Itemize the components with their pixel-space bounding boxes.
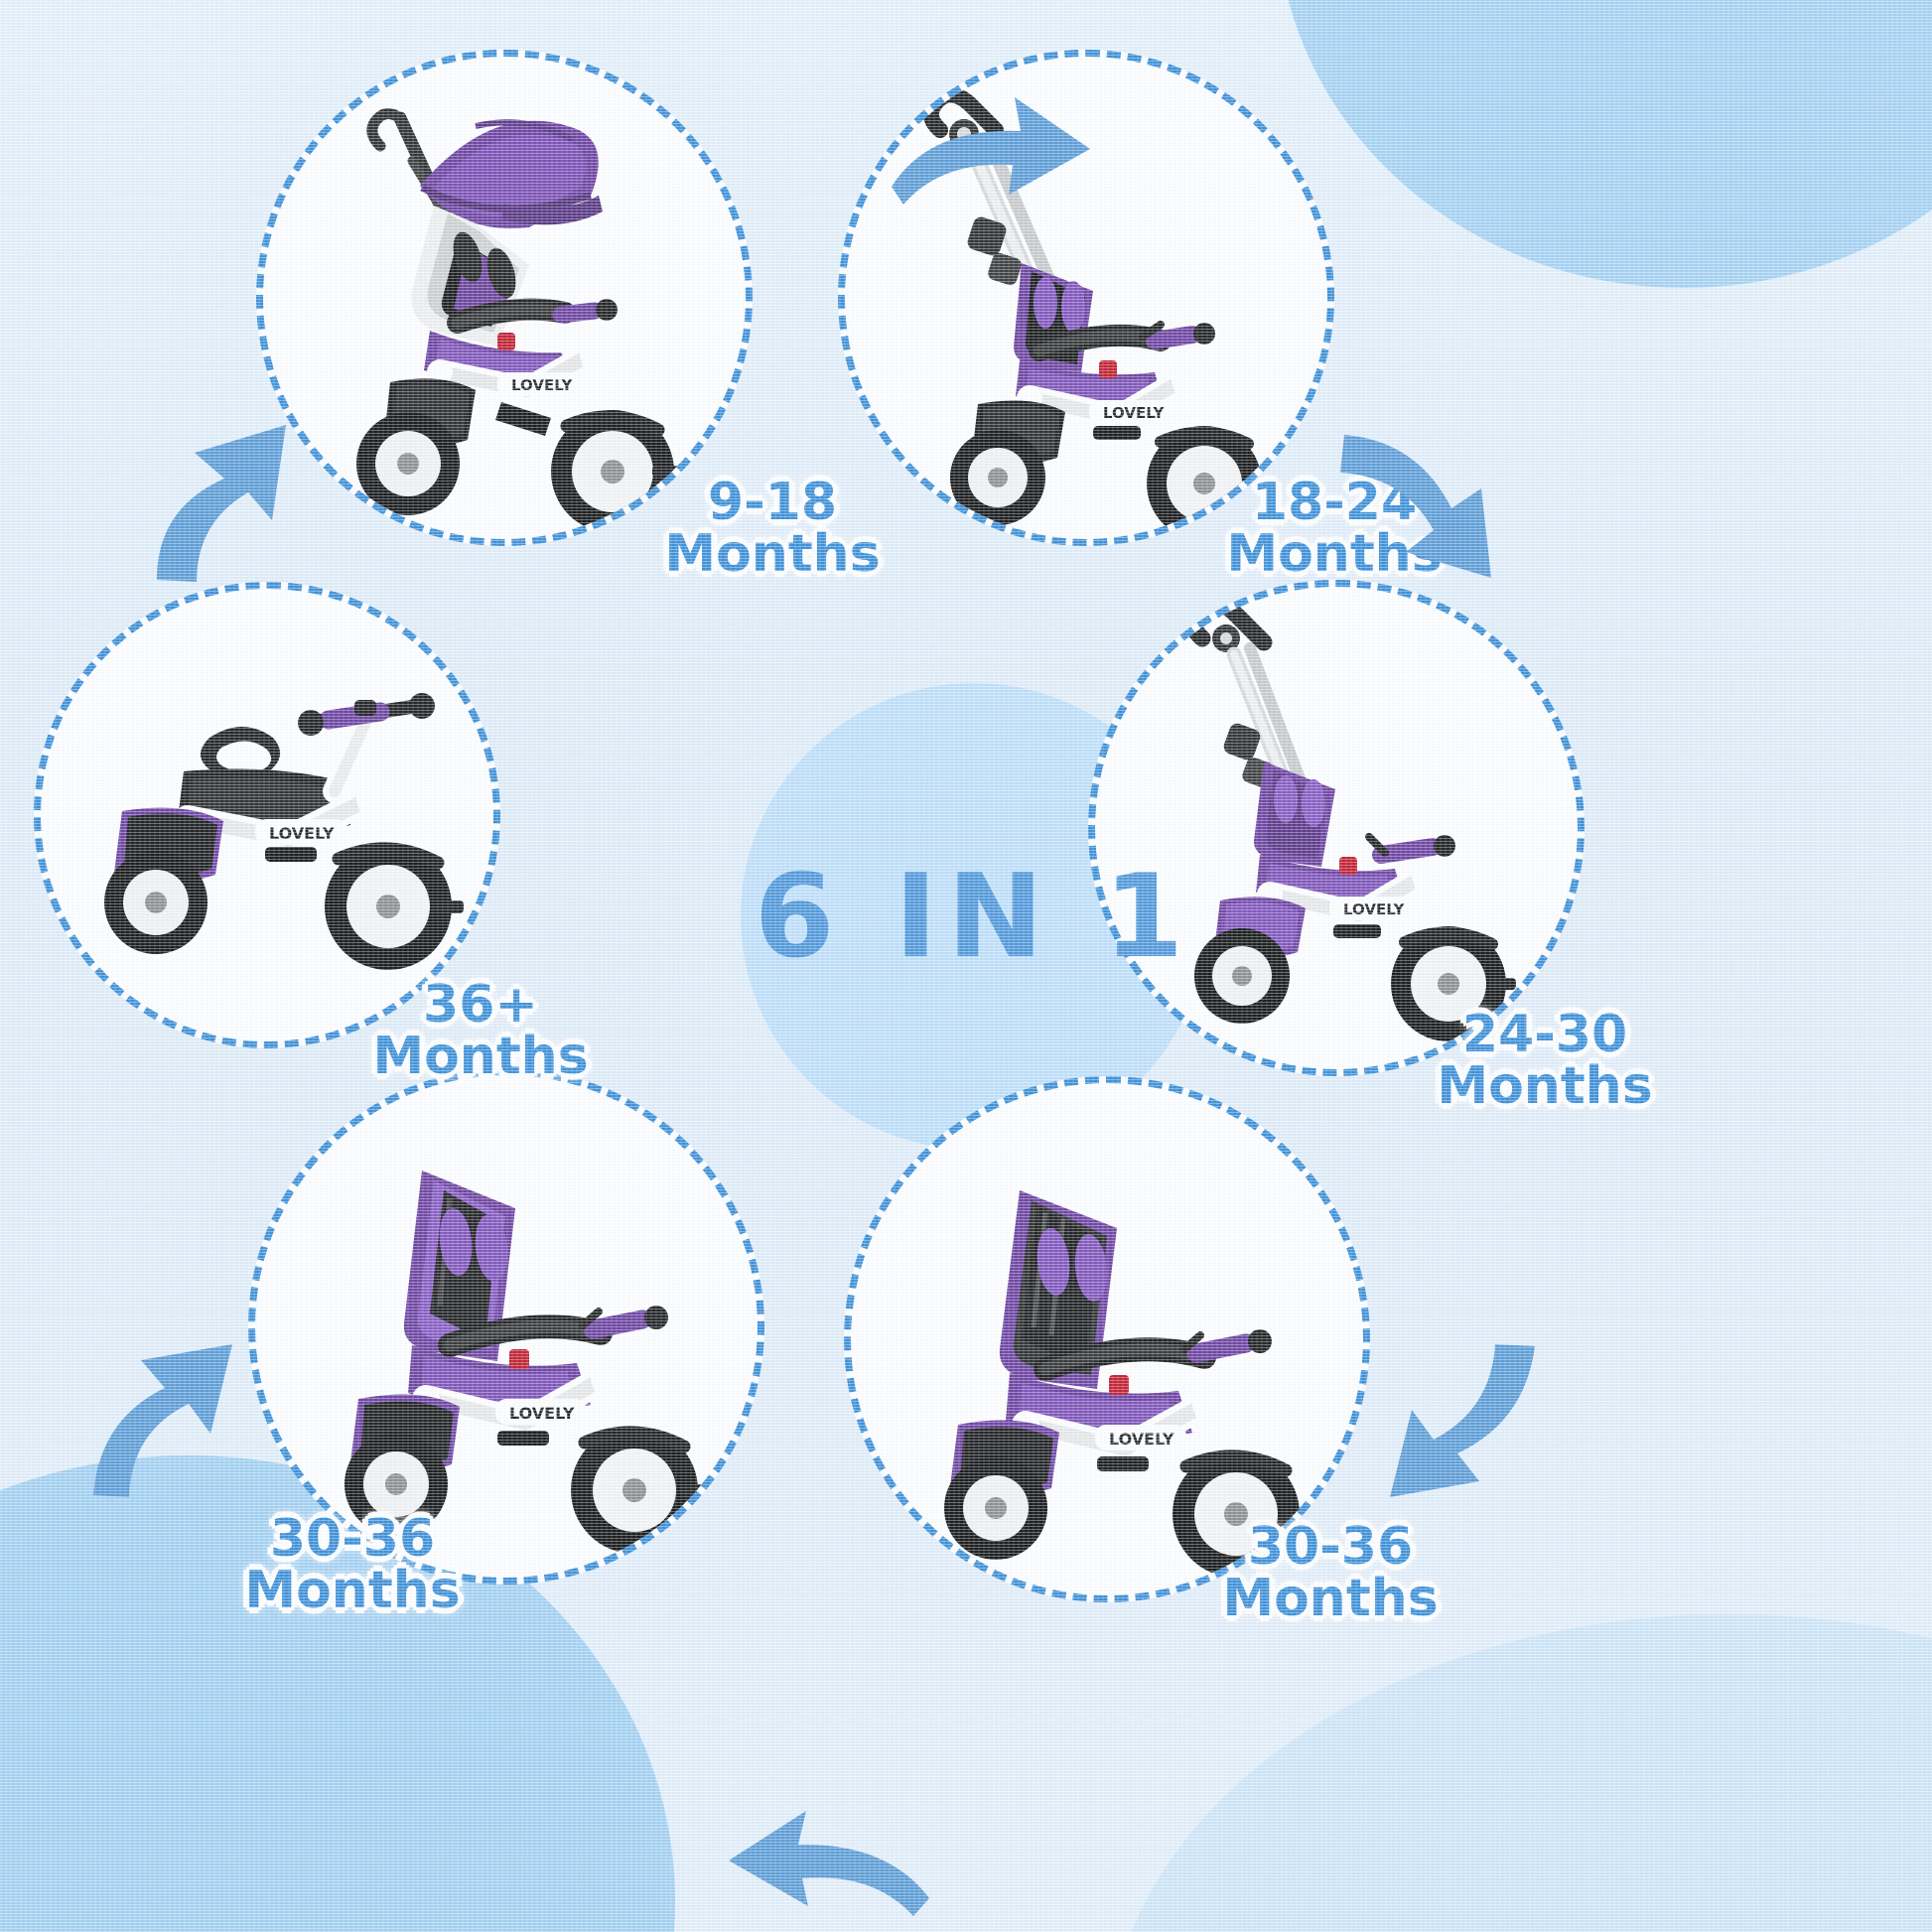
arrow-stage3-to-stage4 xyxy=(1350,1330,1549,1519)
stage-photo-circle-5: LOVELY xyxy=(248,1068,764,1585)
svg-text:LOVELY: LOVELY xyxy=(1103,404,1165,422)
stage-card-6[interactable]: LOVELY 36+ Months xyxy=(34,582,500,1048)
svg-text:LOVELY: LOVELY xyxy=(1109,1430,1174,1449)
arrow-stage5-to-stage6 xyxy=(69,1311,258,1509)
background-blob-top-right xyxy=(1277,0,1932,288)
svg-text:LOVELY: LOVELY xyxy=(511,376,573,394)
stage-caption-5: 30-36 Months xyxy=(189,1513,516,1616)
arrow-stage2-to-stage3 xyxy=(1330,417,1529,606)
stage-caption-4: 30-36 Months xyxy=(1172,1521,1489,1624)
stage-caption-3: 24-30 Months xyxy=(1386,1009,1704,1112)
infographic-canvas: 6 IN 1 xyxy=(0,0,1932,1932)
background-blob-bottom-right xyxy=(1108,1614,1932,1932)
arrow-stage4-to-stage5 xyxy=(703,1787,951,1932)
stage-caption-6: 36+ Months xyxy=(332,979,629,1082)
svg-text:LOVELY: LOVELY xyxy=(509,1404,575,1423)
stage-card-4[interactable]: LOVELY 30-36 Months xyxy=(844,1076,1370,1602)
arrow-stage1-to-stage2 xyxy=(864,69,1112,218)
stage-card-5[interactable]: LOVELY 30-36 Months xyxy=(248,1068,764,1585)
svg-text:LOVELY: LOVELY xyxy=(269,824,335,843)
svg-text:LOVELY: LOVELY xyxy=(1343,900,1405,918)
center-headline: 6 IN 1 xyxy=(741,683,1207,1150)
arrow-stage6-to-stage1 xyxy=(111,383,340,592)
